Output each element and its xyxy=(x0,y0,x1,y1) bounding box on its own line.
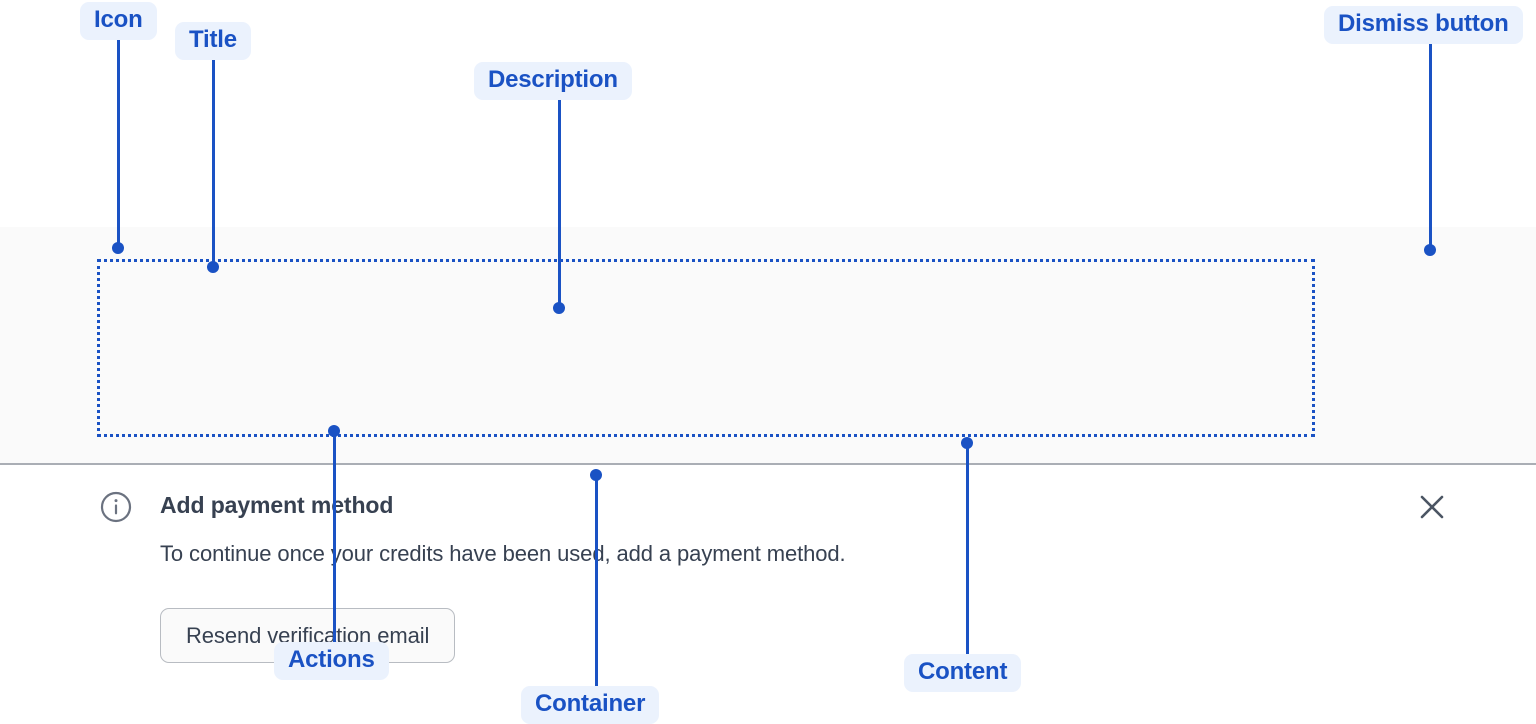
annotation-leader-content xyxy=(966,448,969,654)
close-icon xyxy=(1417,492,1447,522)
annotation-label-description: Description xyxy=(474,62,632,100)
annotation-label-icon: Icon xyxy=(80,2,157,40)
info-circle-icon xyxy=(100,491,132,523)
banner-description: To continue once your credits have been … xyxy=(160,541,846,567)
annotation-dot-actions xyxy=(328,425,340,437)
annotation-label-title: Title xyxy=(175,22,251,60)
dismiss-button[interactable] xyxy=(1417,492,1447,522)
screenshot-root: Add payment method To continue once your… xyxy=(0,0,1536,724)
annotation-leader-icon xyxy=(117,40,120,249)
annotation-dot-dismiss-button xyxy=(1424,244,1436,256)
banner-title: Add payment method xyxy=(160,492,393,519)
annotation-dot-content xyxy=(961,437,973,449)
annotation-dot-title xyxy=(207,261,219,273)
annotation-leader-description xyxy=(558,100,561,309)
annotation-leader-container xyxy=(595,480,598,686)
banner-container: Add payment method To continue once your… xyxy=(0,227,1536,465)
annotation-dot-container xyxy=(590,469,602,481)
annotation-dot-description xyxy=(553,302,565,314)
annotation-leader-dismiss-button xyxy=(1429,44,1432,251)
annotation-leader-actions xyxy=(333,436,336,642)
annotation-label-content: Content xyxy=(904,654,1021,692)
annotation-label-container: Container xyxy=(521,686,659,724)
annotation-leader-title xyxy=(212,60,215,266)
annotation-label-dismiss-button: Dismiss button xyxy=(1324,6,1523,44)
annotation-dot-icon xyxy=(112,242,124,254)
annotation-label-actions: Actions xyxy=(274,642,389,680)
